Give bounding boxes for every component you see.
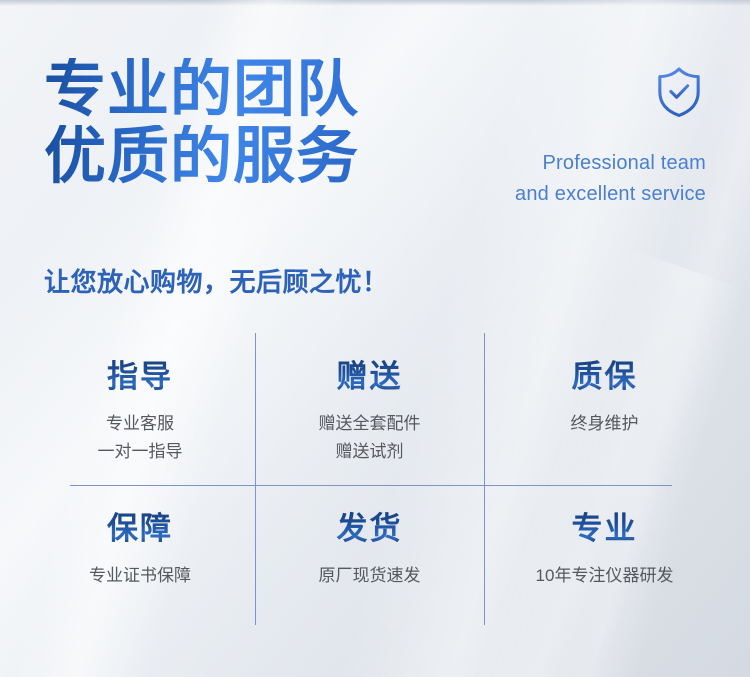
feature-description-line-1: 赠送全套配件 xyxy=(255,410,484,438)
feature-cell-gift: 赠送 赠送全套配件 赠送试剂 xyxy=(255,333,484,485)
feature-title: 赠送 xyxy=(255,351,484,396)
feature-description-line-1: 原厂现货速发 xyxy=(255,562,484,590)
feature-title: 发货 xyxy=(255,503,484,548)
hero-title-line-1: 专业的团队 xyxy=(44,58,359,121)
feature-cell-guidance: 指导 专业客服 一对一指导 xyxy=(25,333,255,485)
feature-title: 指导 xyxy=(25,351,255,396)
feature-description: 专业客服 一对一指导 xyxy=(25,410,255,465)
feature-description: 专业证书保障 xyxy=(25,562,255,590)
hero-english-subtitle: Professional team and excellent service xyxy=(515,148,706,210)
feature-title: 专业 xyxy=(484,503,725,548)
feature-description: 10年专注仪器研发 xyxy=(484,562,725,590)
feature-description: 赠送全套配件 赠送试剂 xyxy=(255,410,484,465)
hero-title-line-2: 优质的服务 xyxy=(44,125,359,188)
feature-description-line-1: 终身维护 xyxy=(484,410,725,438)
feature-description-line-1: 专业证书保障 xyxy=(25,562,255,590)
shield-check-icon xyxy=(656,66,702,118)
hero-english-line-2: and excellent service xyxy=(515,179,706,210)
feature-grid: 指导 专业客服 一对一指导 赠送 赠送全套配件 赠送试剂 质保 终身维护 保障 … xyxy=(25,333,725,628)
feature-description-line-2: 赠送试剂 xyxy=(255,438,484,466)
feature-description: 原厂现货速发 xyxy=(255,562,484,590)
hero-divider xyxy=(44,242,706,243)
feature-description-line-1: 10年专注仪器研发 xyxy=(484,562,725,590)
feature-cell-shipping: 发货 原厂现货速发 xyxy=(255,485,484,628)
feature-cell-expertise: 专业 10年专注仪器研发 xyxy=(484,485,725,628)
hero-english-line-1: Professional team xyxy=(515,148,706,179)
feature-title: 保障 xyxy=(25,503,255,548)
tagline: 让您放心购物，无后顾之忧！ xyxy=(44,262,389,299)
feature-description: 终身维护 xyxy=(484,410,725,438)
hero-title: 专业的团队 优质的服务 xyxy=(44,58,359,188)
hero-section: 专业的团队 优质的服务 Professional team and excell… xyxy=(0,0,750,240)
feature-cell-assurance: 保障 专业证书保障 xyxy=(25,485,255,628)
feature-description-line-2: 一对一指导 xyxy=(25,438,255,466)
feature-description-line-1: 专业客服 xyxy=(25,410,255,438)
feature-cell-warranty: 质保 终身维护 xyxy=(484,333,725,485)
service-promise-banner: 专业的团队 优质的服务 Professional team and excell… xyxy=(0,0,750,677)
feature-title: 质保 xyxy=(484,351,725,396)
